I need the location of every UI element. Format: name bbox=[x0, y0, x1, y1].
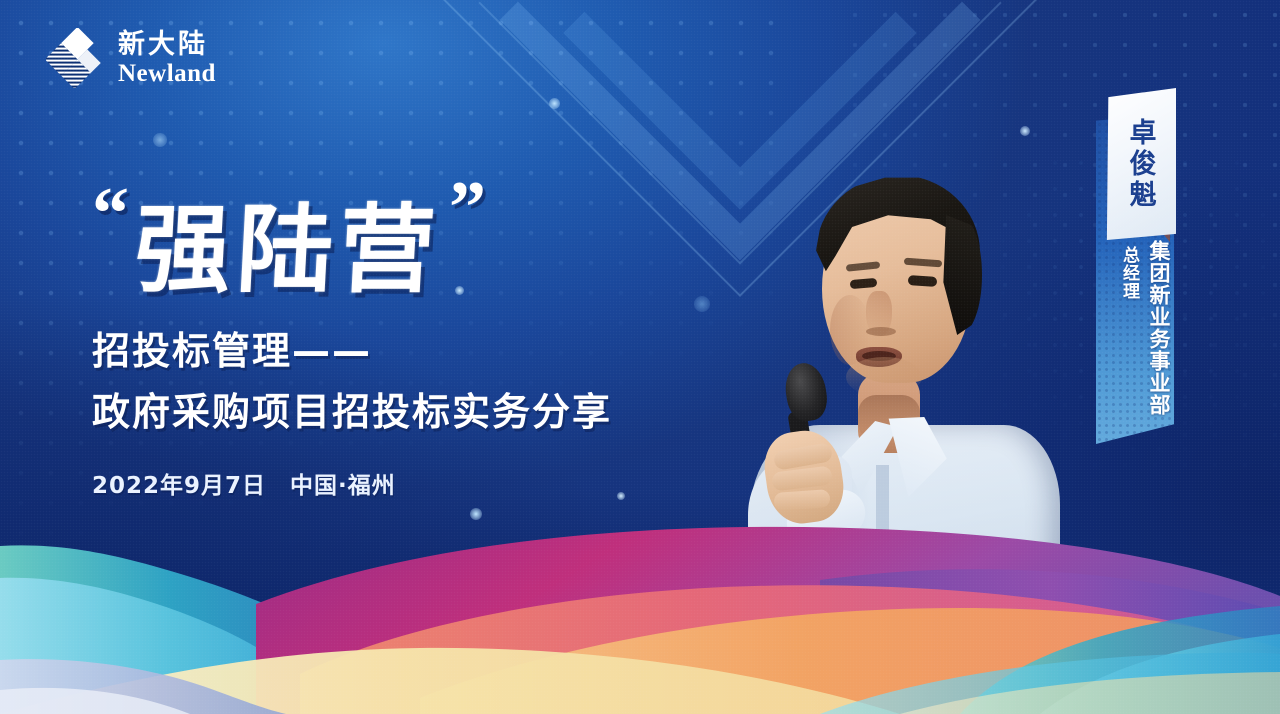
brand-name-cn: 新大陆 bbox=[118, 31, 216, 58]
quote-open: “ bbox=[92, 186, 129, 244]
brand-logo[interactable]: 新大陆 Newland bbox=[46, 28, 216, 88]
newland-diamond-logo-icon bbox=[46, 28, 106, 88]
subtitle-line-2: 政府采购项目招投标实务分享 bbox=[92, 381, 792, 436]
speaker-name-tag: 卓俊魁 bbox=[1104, 88, 1176, 240]
speaker-banner-text: 集团新业务事业部 总经理 bbox=[1096, 238, 1174, 443]
poster-canvas: 新大陆 Newland “ 强陆营 ” 招投标管理—— 政府采购项目招投标实务分… bbox=[0, 0, 1280, 714]
subtitle-line-1: 招投标管理—— bbox=[92, 320, 792, 375]
main-title-text: 强陆营 bbox=[132, 202, 443, 298]
speaker-department: 集团新业务事业部 bbox=[1144, 240, 1174, 443]
speaker-role: 总经理 bbox=[1117, 240, 1142, 443]
title-block: “ 强陆营 ” 招投标管理—— 政府采购项目招投标实务分享 2022年9月7日 … bbox=[92, 186, 792, 500]
speaker-banner: 集团新业务事业部 总经理 卓俊魁 bbox=[1092, 88, 1184, 448]
bottom-wave-decoration bbox=[0, 484, 1280, 714]
quote-close: ” bbox=[449, 180, 486, 238]
main-title: “ 强陆营 ” bbox=[92, 186, 792, 304]
brand-name-en: Newland bbox=[118, 61, 216, 86]
speaker-name: 卓俊魁 bbox=[1104, 88, 1176, 240]
